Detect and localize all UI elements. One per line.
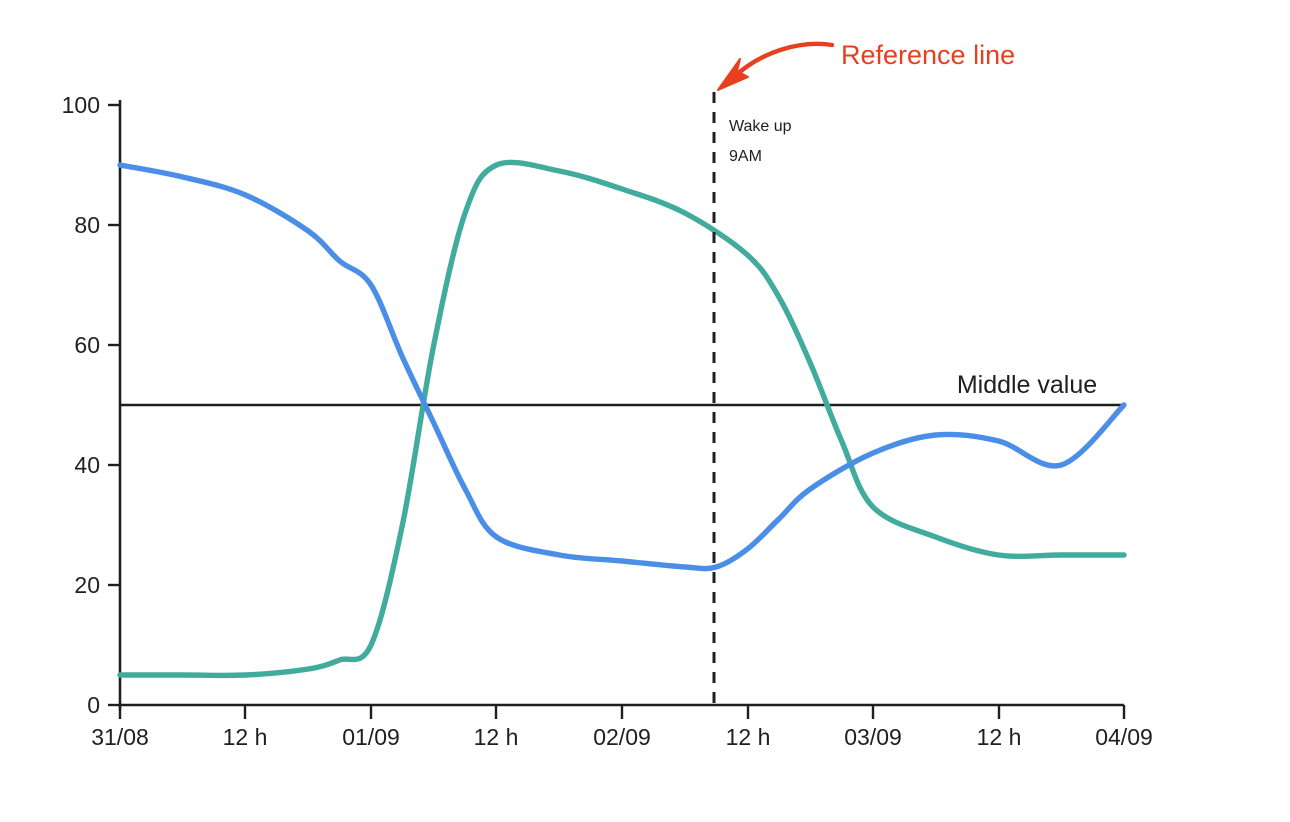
y-tick-label-80: 80 [74, 212, 100, 238]
teal-series-line [120, 162, 1124, 675]
x-tick-label-5: 12 h [726, 724, 771, 750]
y-tick-label-20: 20 [74, 572, 100, 598]
reference-line-arrow-icon [718, 44, 832, 90]
y-tick-label-40: 40 [74, 452, 100, 478]
y-tick-label-0: 0 [87, 692, 100, 718]
reference-line-callout-label: Reference line [841, 40, 1015, 70]
x-tick-label-2: 01/09 [342, 724, 400, 750]
middle-value-label: Middle value [957, 371, 1097, 399]
x-axis-ticks [120, 705, 1124, 719]
x-tick-label-4: 02/09 [593, 724, 651, 750]
y-axis-ticks [108, 105, 120, 705]
x-tick-label-1: 12 h [223, 724, 268, 750]
x-tick-label-8: 04/09 [1095, 724, 1153, 750]
line-chart: 100 80 60 40 20 0 31/08 12 h 01/09 12 h … [0, 0, 1290, 822]
blue-series-line [120, 165, 1124, 569]
chart-container: 100 80 60 40 20 0 31/08 12 h 01/09 12 h … [0, 0, 1290, 822]
x-tick-label-7: 12 h [977, 724, 1022, 750]
y-tick-label-60: 60 [74, 332, 100, 358]
y-tick-label-100: 100 [62, 92, 100, 118]
x-tick-label-6: 03/09 [844, 724, 902, 750]
wake-up-label-line1: Wake up [729, 118, 792, 135]
x-tick-label-3: 12 h [474, 724, 519, 750]
wake-up-label-line2: 9AM [729, 148, 762, 165]
x-tick-label-0: 31/08 [91, 724, 149, 750]
